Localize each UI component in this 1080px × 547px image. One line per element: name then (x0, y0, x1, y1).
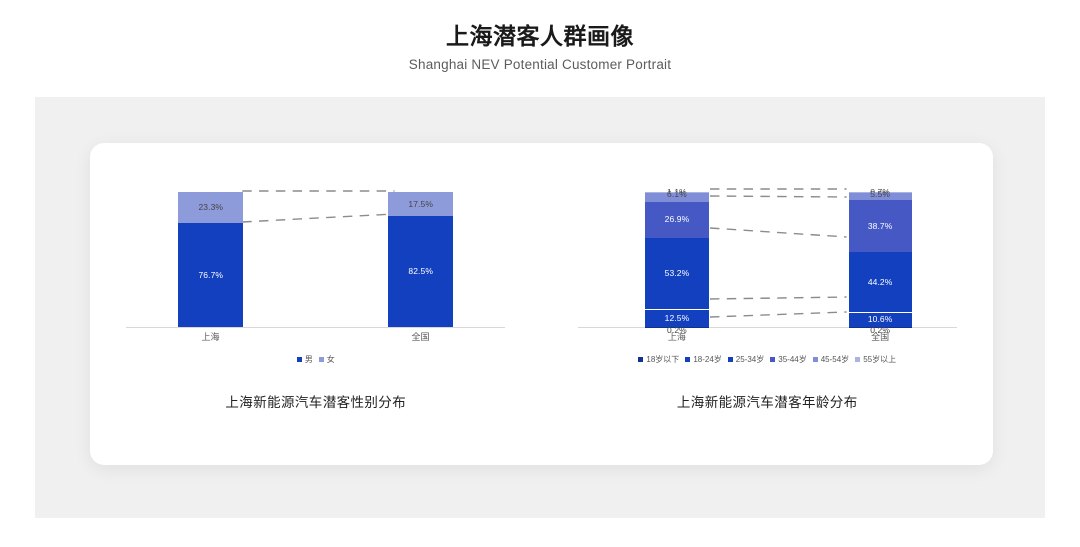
age-chart-caption: 上海新能源汽车潜客年龄分布 (542, 391, 994, 411)
gender-chart-caption: 上海新能源汽车潜客性别分布 (90, 391, 542, 411)
age-bar-shanghai[interactable]: 1.1% 6.1% 26.9% 53.2% 12.5% (645, 192, 708, 327)
legend-swatch-icon (770, 357, 775, 362)
legend-swatch-icon (728, 357, 733, 362)
age-seg-label: 5.5% (870, 190, 890, 199)
legend-item[interactable]: 55岁以上 (855, 354, 896, 365)
legend-swatch-icon (638, 357, 643, 362)
gender-category-label: 上海 (202, 330, 220, 343)
page-title: 上海潜客人群画像 (0, 22, 1080, 51)
legend-item[interactable]: 18岁以下 (638, 354, 679, 365)
page-header: 上海潜客人群画像 Shanghai NEV Potential Customer… (0, 0, 1080, 72)
gender-bar-national[interactable]: 17.5% 82.5% (388, 192, 453, 327)
gender-seg-label: 76.7% (198, 271, 223, 280)
charts-row: 23.3% 76.7% 17.5% 82.5% (90, 143, 993, 465)
age-seg-25-34-national[interactable]: 44.2% (849, 252, 912, 311)
age-seg-25-34-shanghai[interactable]: 53.2% (645, 238, 708, 309)
legend-item[interactable]: 女 (319, 354, 335, 365)
age-seg-label: 12.5% (665, 314, 690, 323)
gender-category-label: 全国 (411, 330, 429, 343)
legend-label: 55岁以上 (863, 354, 896, 365)
legend-label: 18-24岁 (693, 354, 721, 365)
age-seg-label: 53.2% (665, 269, 690, 278)
age-chart: 1.1% 6.1% 26.9% 53.2% 12.5% (542, 143, 994, 465)
gender-bar-shanghai[interactable]: 23.3% 76.7% (178, 192, 243, 327)
legend-swatch-icon (855, 357, 860, 362)
age-seg-35-44-shanghai[interactable]: 26.9% (645, 202, 708, 238)
content-panel: 23.3% 76.7% 17.5% 82.5% (35, 97, 1045, 518)
age-seg-label: 38.7% (868, 222, 893, 231)
legend-label: 25-34岁 (736, 354, 764, 365)
gender-seg-female-shanghai[interactable]: 23.3% (178, 192, 243, 223)
age-category-label: 全国 (871, 330, 889, 343)
gender-seg-label: 23.3% (198, 203, 223, 212)
legend-item[interactable]: 男 (297, 354, 313, 365)
gender-chart: 23.3% 76.7% 17.5% 82.5% (90, 143, 542, 465)
legend-item[interactable]: 45-54岁 (813, 354, 849, 365)
age-category-label: 上海 (668, 330, 686, 343)
age-seg-45-54-national[interactable]: 5.5% (849, 193, 912, 200)
page-subtitle: Shanghai NEV Potential Customer Portrait (0, 57, 1080, 72)
gender-seg-label: 82.5% (408, 267, 433, 276)
legend-label: 男 (305, 354, 313, 365)
age-bar-national[interactable]: 0.7% 5.5% 38.7% 44.2% 10.6% (849, 192, 912, 327)
legend-swatch-icon (319, 357, 324, 362)
legend-label: 18岁以下 (646, 354, 679, 365)
age-seg-label: 44.2% (868, 278, 893, 287)
gender-chart-connectors (90, 185, 542, 328)
gender-seg-label: 17.5% (408, 200, 433, 209)
legend-swatch-icon (685, 357, 690, 362)
legend-item[interactable]: 18-24岁 (685, 354, 721, 365)
age-chart-plot: 1.1% 6.1% 26.9% 53.2% 12.5% (542, 185, 994, 328)
age-seg-label: 6.1% (667, 190, 687, 199)
age-chart-connectors (542, 185, 994, 328)
legend-label: 35-44岁 (778, 354, 806, 365)
gender-chart-plot: 23.3% 76.7% 17.5% 82.5% (90, 185, 542, 328)
age-chart-axis (578, 327, 957, 328)
age-seg-label: 26.9% (665, 215, 690, 224)
legend-swatch-icon (297, 357, 302, 362)
gender-seg-male-shanghai[interactable]: 76.7% (178, 223, 243, 327)
gender-seg-male-national[interactable]: 82.5% (388, 216, 453, 327)
age-seg-label: 10.6% (868, 315, 893, 324)
legend-label: 45-54岁 (821, 354, 849, 365)
age-chart-legend: 18岁以下 18-24岁 25-34岁 35-44岁 (542, 354, 994, 365)
age-seg-35-44-national[interactable]: 38.7% (849, 200, 912, 252)
legend-item[interactable]: 35-44岁 (770, 354, 806, 365)
legend-label: 女 (327, 354, 335, 365)
gender-chart-axis (126, 327, 505, 328)
age-seg-45-54-shanghai[interactable]: 6.1% (645, 193, 708, 201)
gender-chart-categories: 上海 全国 (90, 330, 542, 344)
gender-chart-legend: 男 女 (90, 354, 542, 365)
charts-card: 23.3% 76.7% 17.5% 82.5% (90, 143, 993, 465)
age-chart-categories: 上海 全国 (542, 330, 994, 344)
legend-swatch-icon (813, 357, 818, 362)
gender-seg-female-national[interactable]: 17.5% (388, 192, 453, 216)
legend-item[interactable]: 25-34岁 (728, 354, 764, 365)
